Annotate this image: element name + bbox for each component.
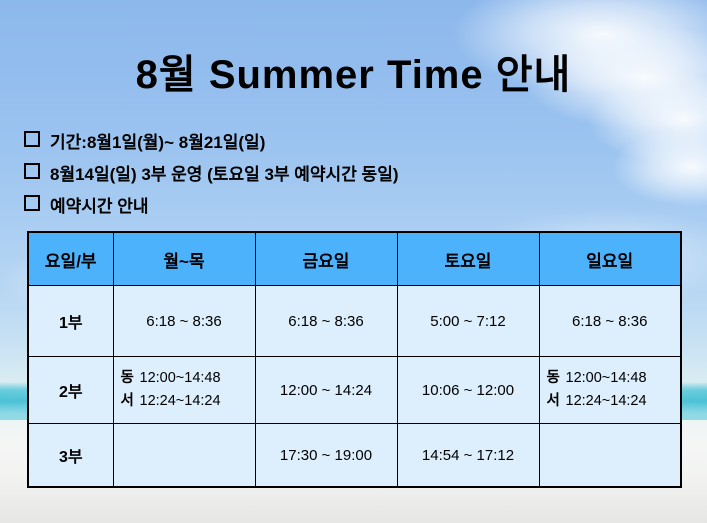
bullet-item-label: 예약시간 안내 [50,192,149,217]
column-header-saturday: 토요일 [397,232,539,286]
cell-line-west: 서12:24~14:24 [115,390,254,413]
square-bullet-icon [24,131,40,147]
cell-line-east: 동12:00~14:48 [115,367,254,390]
presentation-slide: 8월 Summer Time 안내 기간:8월1일(월)~ 8월21일(일) 8… [0,0,707,523]
cell-part1-sunday: 6:18 ~ 8:36 [539,286,681,357]
cell-part3-saturday: 14:54 ~ 17:12 [397,424,539,488]
square-bullet-icon [24,195,40,211]
cell-part3-mon-thu [113,424,255,488]
column-header-mon-thu: 월~목 [113,232,255,286]
west-label: 서 [547,390,562,413]
west-time: 12:24~14:24 [566,393,647,409]
table-row: 2부 동12:00~14:48 서12:24~14:24 12:00 ~ 14:… [28,357,681,424]
cell-part2-sunday: 동12:00~14:48 서12:24~14:24 [539,357,681,424]
west-label: 서 [121,390,136,413]
column-header-part: 요일/부 [28,232,113,286]
bullet-item-label: 기간:8월1일(월)~ 8월21일(일) [50,128,265,153]
east-time: 12:00~14:48 [566,370,647,386]
cell-part3-friday: 17:30 ~ 19:00 [255,424,397,488]
bullet-item-period: 기간:8월1일(월)~ 8월21일(일) [24,128,664,160]
cell-part2-saturday: 10:06 ~ 12:00 [397,357,539,424]
table-row: 1부 6:18 ~ 8:36 6:18 ~ 8:36 5:00 ~ 7:12 6… [28,286,681,357]
bullet-item-label: 8월14일(일) 3부 운영 (토요일 3부 예약시간 동일) [50,160,399,185]
east-label: 동 [547,367,562,390]
slide-title: 8월 Summer Time 안내 [0,42,707,100]
bullet-item-reservation-info: 예약시간 안내 [24,192,664,224]
square-bullet-icon [24,163,40,179]
west-time: 12:24~14:24 [140,393,221,409]
cell-line-west: 서12:24~14:24 [541,390,680,413]
table-header-row: 요일/부 월~목 금요일 토요일 일요일 [28,232,681,286]
schedule-table: 요일/부 월~목 금요일 토요일 일요일 1부 6:18 ~ 8:36 6:18… [27,231,682,488]
table-row: 3부 17:30 ~ 19:00 14:54 ~ 17:12 [28,424,681,488]
cell-part3-sunday [539,424,681,488]
bullet-list: 기간:8월1일(월)~ 8월21일(일) 8월14일(일) 3부 운영 (토요일… [24,128,664,224]
cell-line-east: 동12:00~14:48 [541,367,680,390]
cell-part1-mon-thu: 6:18 ~ 8:36 [113,286,255,357]
cell-part1-saturday: 5:00 ~ 7:12 [397,286,539,357]
column-header-sunday: 일요일 [539,232,681,286]
row-label-part-1: 1부 [28,286,113,357]
row-label-part-2: 2부 [28,357,113,424]
bullet-item-special-day: 8월14일(일) 3부 운영 (토요일 3부 예약시간 동일) [24,160,664,192]
row-label-part-3: 3부 [28,424,113,488]
cell-part2-mon-thu: 동12:00~14:48 서12:24~14:24 [113,357,255,424]
east-time: 12:00~14:48 [140,370,221,386]
cell-part1-friday: 6:18 ~ 8:36 [255,286,397,357]
east-label: 동 [121,367,136,390]
column-header-friday: 금요일 [255,232,397,286]
cell-part2-friday: 12:00 ~ 14:24 [255,357,397,424]
